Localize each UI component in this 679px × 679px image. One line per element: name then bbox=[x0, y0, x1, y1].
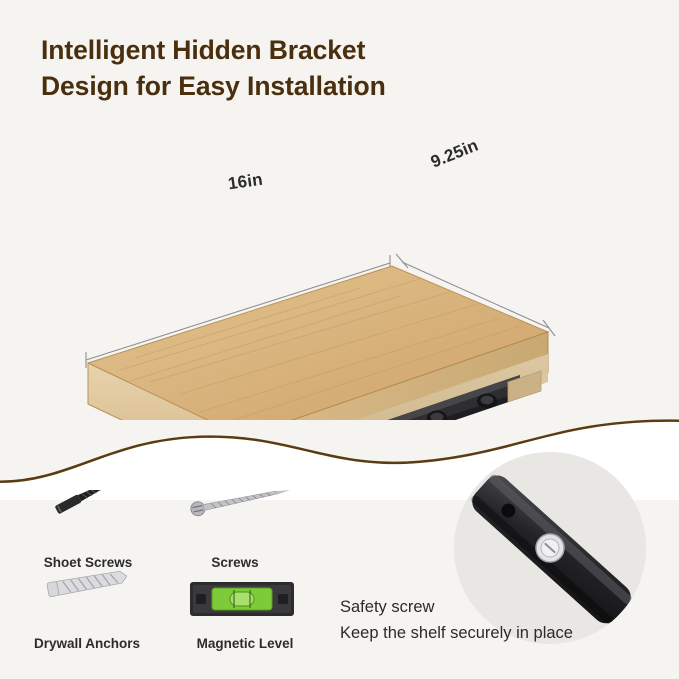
shelf-illustration: 16in 9.25in bbox=[0, 120, 679, 420]
headline-line-2: Design for Easy Installation bbox=[41, 69, 601, 105]
safety-line-1: Safety screw bbox=[340, 595, 660, 621]
accessory-label-shoet-screws: Shoet Screws bbox=[18, 555, 158, 570]
magnetic-level-icon bbox=[190, 582, 294, 616]
shelf-drawing bbox=[0, 120, 679, 420]
drywall-anchors-icon bbox=[47, 569, 128, 597]
headline-line-1: Intelligent Hidden Bracket bbox=[41, 35, 365, 65]
safety-screw-text: Safety screw Keep the shelf securely in … bbox=[340, 595, 660, 646]
accessory-label-screws: Screws bbox=[170, 555, 300, 570]
accessory-label-drywall-anchors: Drywall Anchors bbox=[12, 636, 162, 651]
product-infographic: Intelligent Hidden Bracket Design for Ea… bbox=[0, 0, 679, 679]
accessory-label-magnetic-level: Magnetic Level bbox=[170, 636, 320, 651]
accessories-section: Shoet Screws Screws Drywall Anchors Magn… bbox=[0, 490, 679, 679]
page-title: Intelligent Hidden Bracket Design for Ea… bbox=[41, 33, 601, 105]
shoet-screws-icon bbox=[55, 490, 116, 514]
safety-line-2: Keep the shelf securely in place bbox=[340, 621, 660, 647]
screws-icon bbox=[190, 490, 292, 517]
